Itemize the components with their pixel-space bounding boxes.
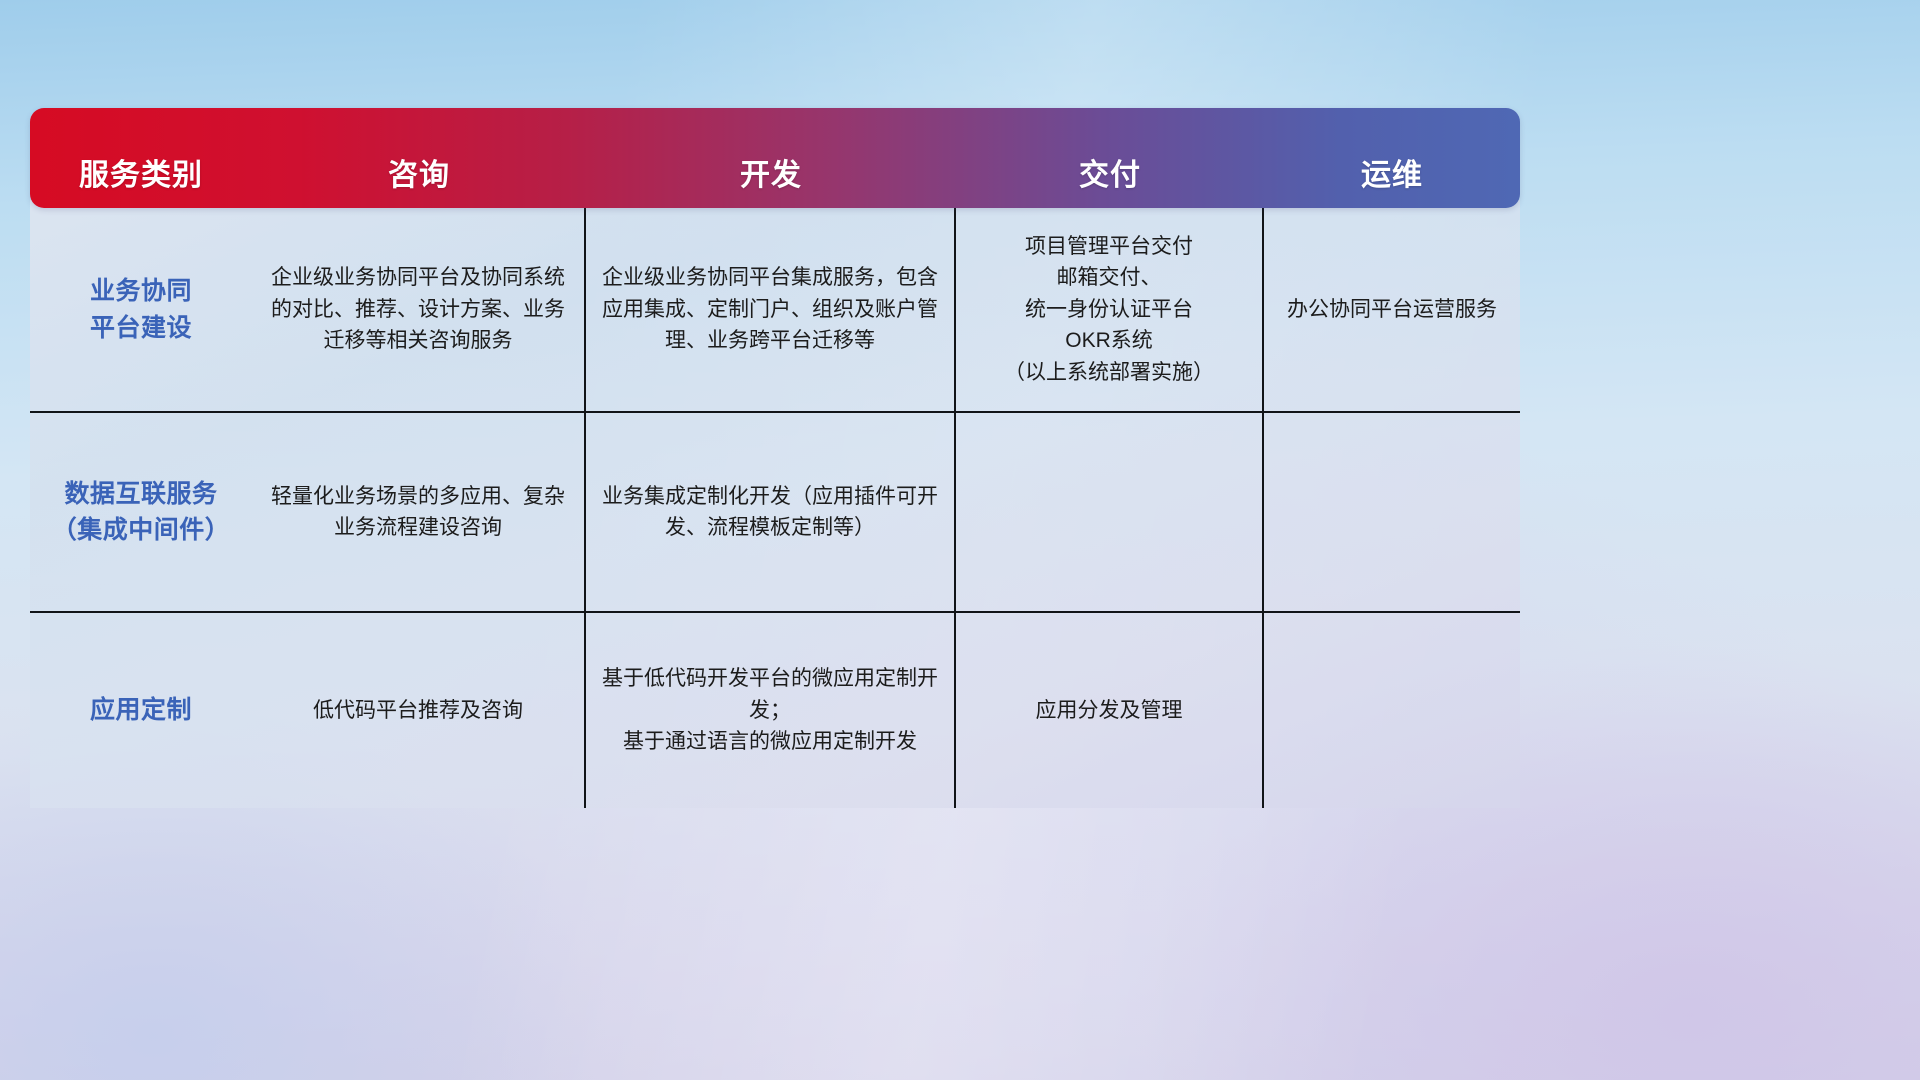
- cell-category: 业务协同 平台建设: [30, 208, 252, 411]
- cell-category: 数据互联服务 （集成中间件）: [30, 413, 252, 611]
- cell-operations: [1264, 613, 1520, 808]
- column-header-category: 服务类别: [30, 108, 252, 208]
- cell-consulting: 轻量化业务场景的多应用、复杂业务流程建设咨询: [252, 413, 586, 611]
- column-header-consulting: 咨询: [252, 108, 586, 208]
- column-header-operations: 运维: [1264, 108, 1520, 208]
- cell-operations: 办公协同平台运营服务: [1264, 208, 1520, 411]
- cell-consulting: 低代码平台推荐及咨询: [252, 613, 586, 808]
- cell-delivery: 项目管理平台交付 邮箱交付、 统一身份认证平台 OKR系统 （以上系统部署实施）: [956, 208, 1264, 411]
- cell-operations: [1264, 413, 1520, 611]
- table-body: 业务协同 平台建设 企业级业务协同平台及协同系统的对比、推荐、设计方案、业务迁移…: [30, 200, 1520, 808]
- cell-delivery: 应用分发及管理: [956, 613, 1264, 808]
- column-header-delivery: 交付: [956, 108, 1264, 208]
- cell-development: 企业级业务协同平台集成服务，包含应用集成、定制门户、组织及账户管理、业务跨平台迁…: [586, 208, 956, 411]
- cell-category: 应用定制: [30, 613, 252, 808]
- cell-consulting: 企业级业务协同平台及协同系统的对比、推荐、设计方案、业务迁移等相关咨询服务: [252, 208, 586, 411]
- table-row: 数据互联服务 （集成中间件） 轻量化业务场景的多应用、复杂业务流程建设咨询 业务…: [30, 413, 1520, 613]
- cell-development: 业务集成定制化开发（应用插件可开发、流程模板定制等）: [586, 413, 956, 611]
- table-row: 应用定制 低代码平台推荐及咨询 基于低代码开发平台的微应用定制开发； 基于通过语…: [30, 613, 1520, 808]
- table-row: 业务协同 平台建设 企业级业务协同平台及协同系统的对比、推荐、设计方案、业务迁移…: [30, 208, 1520, 413]
- service-matrix-table: 服务类别 咨询 开发 交付 运维 业务协同 平台建设 企业级业务协同平台及协同系…: [30, 108, 1520, 808]
- table-header-row: 服务类别 咨询 开发 交付 运维: [30, 108, 1520, 208]
- column-header-development: 开发: [586, 108, 956, 208]
- cell-development: 基于低代码开发平台的微应用定制开发； 基于通过语言的微应用定制开发: [586, 613, 956, 808]
- cell-delivery: [956, 413, 1264, 611]
